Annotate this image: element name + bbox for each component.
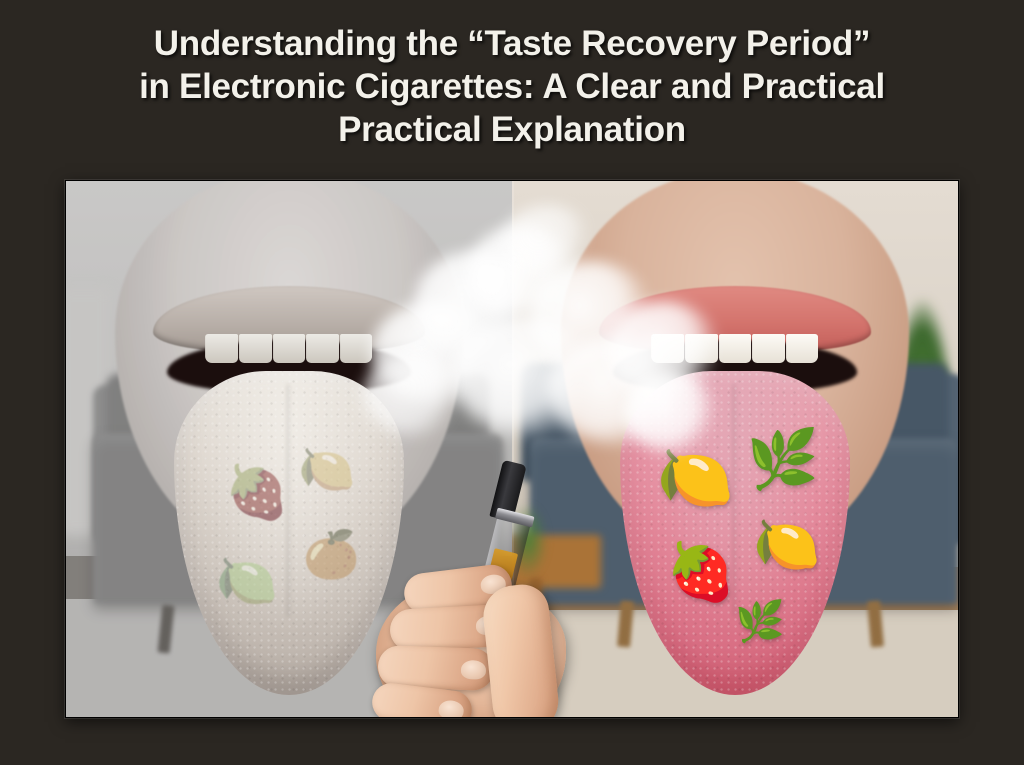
hand-holding-vape-device [366, 441, 666, 718]
title-line-3: Practical Explanation [36, 108, 988, 151]
fingernail [461, 660, 487, 680]
sofa-leg-blur [867, 601, 884, 648]
lemon-whole-icon: 🍋 [753, 514, 820, 577]
lemon-whole-icon: 🍋 [298, 442, 355, 497]
title-line-1: Understanding the “Taste Recovery Period… [36, 22, 988, 65]
teeth [206, 334, 373, 363]
orange-icon: 🍊 [303, 527, 360, 582]
mint-leaves-icon: 🌿 [746, 426, 818, 494]
title-line-2: in Electronic Cigarettes: A Clear and Pr… [36, 65, 988, 108]
strawberry-icon: 🍓 [666, 539, 736, 605]
lime-slice-icon: 🍋 [216, 552, 278, 611]
before-after-comparison-image: 🍓 🍋 🍊 🍋 [65, 180, 959, 718]
page-title: Understanding the “Taste Recovery Period… [0, 22, 1024, 151]
sofa-leg-blur [157, 604, 174, 653]
teeth [652, 334, 819, 363]
strawberry-icon: 🍓 [225, 462, 290, 523]
lemon-slice-icon: 🍋 [657, 442, 734, 515]
thumb [480, 582, 561, 718]
hand [366, 551, 581, 718]
fingernail [438, 699, 465, 718]
mint-leaf-icon: 🌿 [735, 598, 785, 645]
